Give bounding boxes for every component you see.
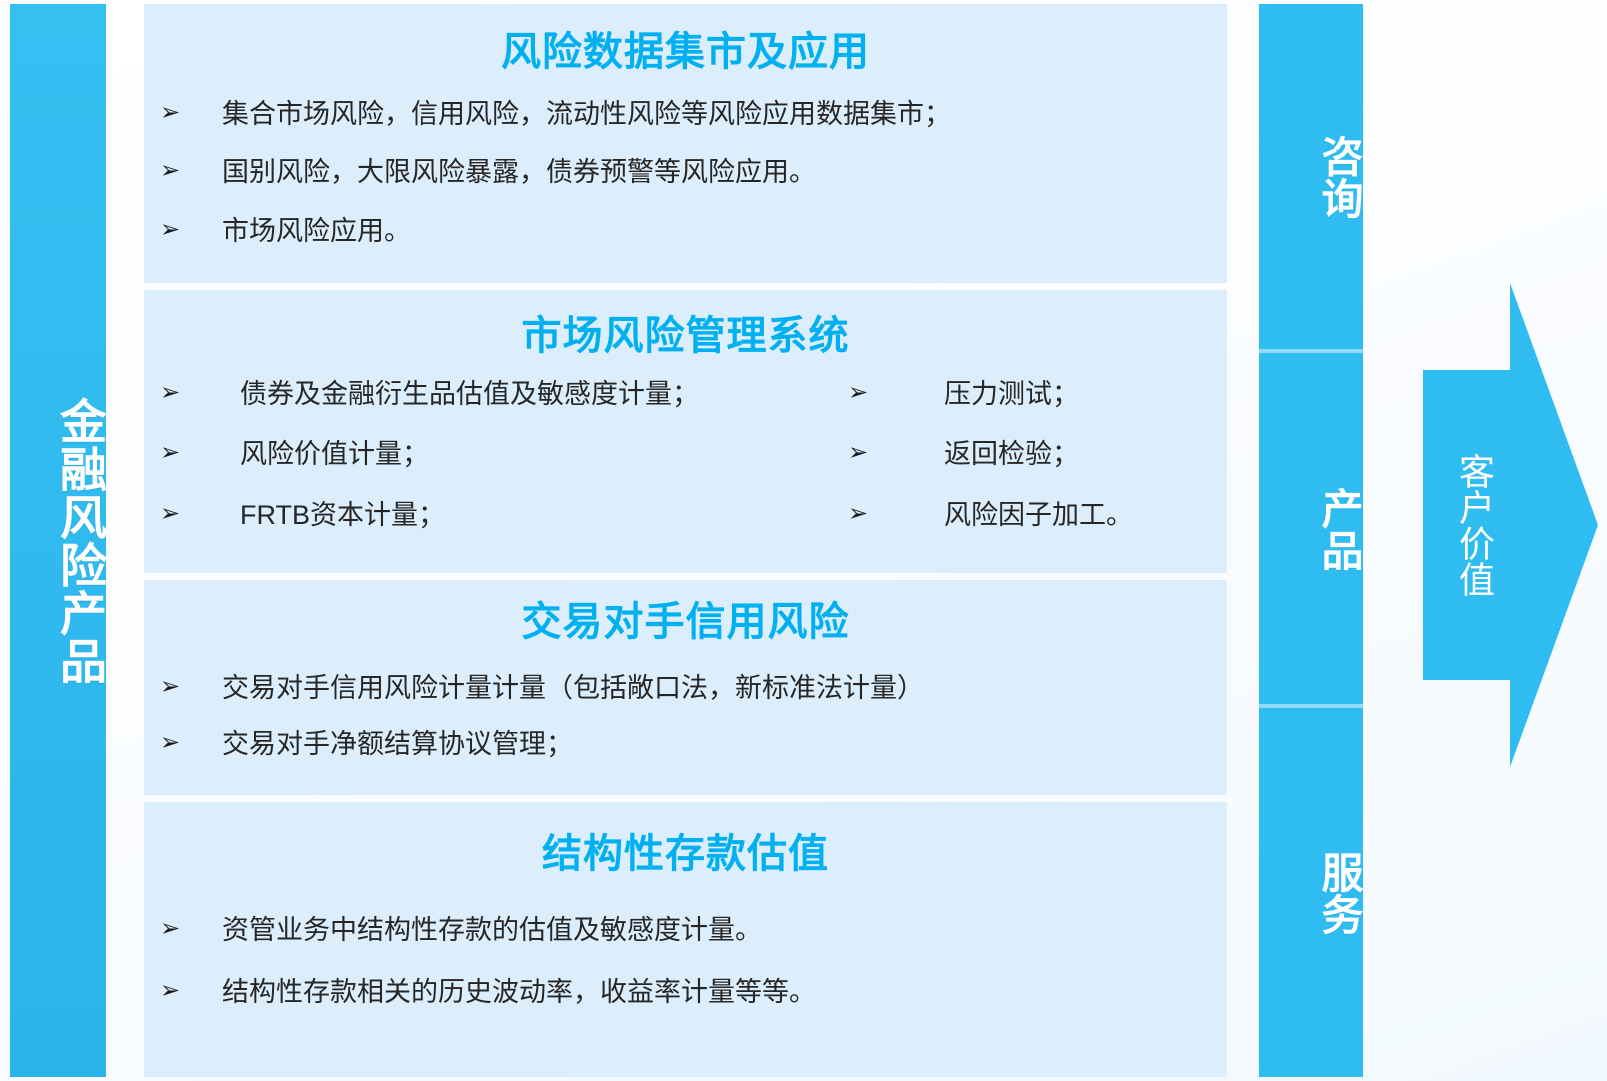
bullet-list: ➢ 交易对手信用风险计量计量（包括敞口法，新标准法计量） ➢ 交易对手净额结算协… — [144, 672, 1227, 761]
diagram-canvas: 金融风险产品 风险数据集市及应用 ➢ 集合市场风险，信用风险，流动性风险等风险应… — [0, 0, 1607, 1081]
arrow-bullet-icon: ➢ — [144, 156, 222, 185]
left-category-bar: 金融风险产品 — [10, 4, 106, 1077]
arrow-bullet-icon: ➢ — [144, 728, 222, 757]
list-item: ➢ 压力测试； — [844, 378, 1227, 410]
stage-label: 产品 — [1259, 477, 1363, 581]
bullet-list: ➢ 资管业务中结构性存款的估值及敏感度计量。 ➢ 结构性存款相关的历史波动率，收… — [144, 914, 1227, 1009]
panel-structured-deposit-valuation[interactable]: 结构性存款估值 ➢ 资管业务中结构性存款的估值及敏感度计量。 ➢ 结构性存款相关… — [144, 802, 1227, 1077]
panel-title: 市场风险管理系统 — [144, 290, 1227, 356]
panel-counterparty-credit-risk[interactable]: 交易对手信用风险 ➢ 交易对手信用风险计量计量（包括敞口法，新标准法计量） ➢ … — [144, 580, 1227, 795]
arrow-bullet-icon: ➢ — [144, 672, 222, 701]
bullet-list-right: ➢ 压力测试； ➢ 返回检验； ➢ 风险因子加工。 — [844, 378, 1227, 559]
arrow-bullet-icon: ➢ — [844, 499, 944, 528]
list-item-text: 结构性存款相关的历史波动率，收益率计量等等。 — [222, 976, 1227, 1008]
arrow-bullet-icon: ➢ — [144, 914, 222, 943]
arrow-bullet-icon: ➢ — [144, 976, 222, 1005]
stage-label: 咨询 — [1259, 125, 1363, 229]
list-item-text: 交易对手净额结算协议管理； — [222, 728, 1227, 760]
list-item-text: 风险价值计量； — [240, 438, 844, 470]
list-item-text: 国别风险，大限风险暴露，债券预警等风险应用。 — [222, 156, 1227, 188]
panel-market-risk-management-system[interactable]: 市场风险管理系统 ➢ 债券及金融衍生品估值及敏感度计量； ➢ 风险价值计量； ➢… — [144, 290, 1227, 573]
list-item-text: 返回检验； — [944, 438, 1227, 470]
list-item-text: 交易对手信用风险计量计量（包括敞口法，新标准法计量） — [222, 672, 1227, 704]
list-item: ➢ 交易对手净额结算协议管理； — [144, 728, 1227, 760]
panel-risk-data-mart[interactable]: 风险数据集市及应用 ➢ 集合市场风险，信用风险，流动性风险等风险应用数据集市； … — [144, 4, 1227, 283]
stage-column: 咨询 产品 服务 — [1259, 4, 1363, 1077]
arrow-bullet-icon: ➢ — [144, 215, 222, 244]
panel-title: 结构性存款估值 — [144, 802, 1227, 874]
list-item: ➢ 市场风险应用。 — [144, 215, 1227, 247]
list-item: ➢ FRTB资本计量； — [144, 499, 844, 531]
bullet-columns: ➢ 债券及金融衍生品估值及敏感度计量； ➢ 风险价值计量； ➢ FRTB资本计量… — [144, 378, 1227, 559]
customer-value-arrow: 客户价值 — [1410, 275, 1607, 775]
arrow-bullet-icon: ➢ — [144, 499, 240, 528]
list-item-text: 集合市场风险，信用风险，流动性风险等风险应用数据集市； — [222, 98, 1227, 130]
list-item: ➢ 国别风险，大限风险暴露，债券预警等风险应用。 — [144, 156, 1227, 188]
list-item-text: 市场风险应用。 — [222, 215, 1227, 247]
stage-service[interactable]: 服务 — [1259, 709, 1363, 1077]
bullet-list: ➢ 集合市场风险，信用风险，流动性风险等风险应用数据集市； ➢ 国别风险，大限风… — [144, 98, 1227, 247]
arrow-bullet-icon: ➢ — [844, 438, 944, 467]
arrow-bullet-icon: ➢ — [144, 378, 240, 407]
list-item: ➢ 资管业务中结构性存款的估值及敏感度计量。 — [144, 914, 1227, 946]
arrow-bullet-icon: ➢ — [144, 98, 222, 127]
customer-value-label: 客户价值 — [1430, 385, 1496, 665]
panel-title: 交易对手信用风险 — [144, 580, 1227, 642]
list-item-text: 债券及金融衍生品估值及敏感度计量； — [240, 378, 844, 410]
arrow-bullet-icon: ➢ — [144, 438, 240, 467]
list-item-text: 资管业务中结构性存款的估值及敏感度计量。 — [222, 914, 1227, 946]
list-item: ➢ 风险因子加工。 — [844, 499, 1227, 531]
list-item-text: 风险因子加工。 — [944, 499, 1227, 531]
stage-label: 服务 — [1259, 841, 1363, 945]
list-item: ➢ 风险价值计量； — [144, 438, 844, 470]
list-item-text: 压力测试； — [944, 378, 1227, 410]
left-category-label: 金融风险产品 — [10, 356, 106, 726]
stage-consulting[interactable]: 咨询 — [1259, 4, 1363, 349]
stage-divider — [1259, 349, 1363, 353]
arrow-bullet-icon: ➢ — [844, 378, 944, 407]
list-item: ➢ 集合市场风险，信用风险，流动性风险等风险应用数据集市； — [144, 98, 1227, 130]
list-item: ➢ 债券及金融衍生品估值及敏感度计量； — [144, 378, 844, 410]
list-item-text: FRTB资本计量； — [240, 499, 844, 531]
panel-title: 风险数据集市及应用 — [144, 4, 1227, 72]
list-item: ➢ 交易对手信用风险计量计量（包括敞口法，新标准法计量） — [144, 672, 1227, 704]
bullet-list-left: ➢ 债券及金融衍生品估值及敏感度计量； ➢ 风险价值计量； ➢ FRTB资本计量… — [144, 378, 844, 559]
stage-product[interactable]: 产品 — [1259, 354, 1363, 704]
list-item: ➢ 返回检验； — [844, 438, 1227, 470]
stage-divider — [1259, 704, 1363, 708]
list-item: ➢ 结构性存款相关的历史波动率，收益率计量等等。 — [144, 976, 1227, 1008]
